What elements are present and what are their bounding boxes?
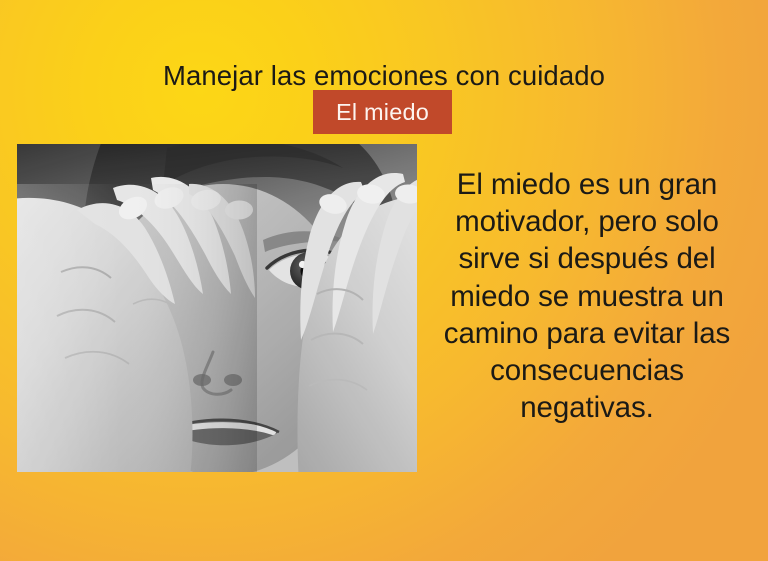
body-text: El miedo es un gran motivador, pero solo… bbox=[428, 166, 746, 426]
status-badge: El miedo bbox=[313, 90, 452, 134]
photo-child-covering-face bbox=[17, 144, 417, 472]
slide-canvas: Manejar las emociones con cuidado El mie… bbox=[0, 0, 768, 561]
status-badge-label: El miedo bbox=[336, 100, 429, 124]
page-title: Manejar las emociones con cuidado bbox=[0, 59, 768, 93]
photo-illustration-icon bbox=[17, 144, 417, 472]
